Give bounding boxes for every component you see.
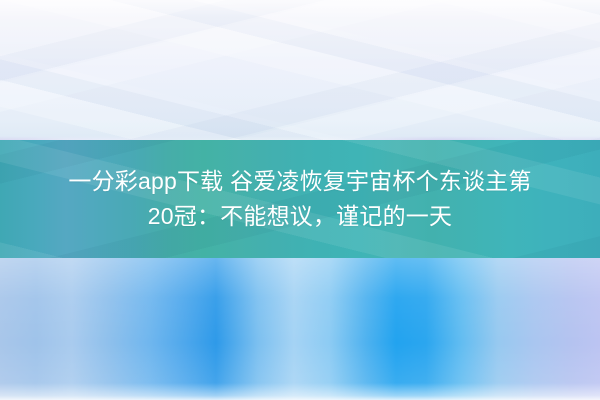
top-highlight-wash bbox=[0, 0, 600, 142]
promo-banner: 一分彩app下载 谷爱凌恢复宇宙杯个东谈主第 20冠：不能想议，谨记的一天 bbox=[0, 0, 600, 400]
lower-blue-field bbox=[0, 258, 600, 400]
banner-headline: 一分彩app下载 谷爱凌恢复宇宙杯个东谈主第 20冠：不能想议，谨记的一天 bbox=[0, 164, 600, 234]
headline-line-2: 20冠：不能想议，谨记的一天 bbox=[0, 199, 600, 234]
headline-line-1: 一分彩app下载 谷爱凌恢复宇宙杯个东谈主第 bbox=[68, 168, 531, 194]
headline-band: 一分彩app下载 谷爱凌恢复宇宙杯个东谈主第 20冠：不能想议，谨记的一天 bbox=[0, 140, 600, 258]
